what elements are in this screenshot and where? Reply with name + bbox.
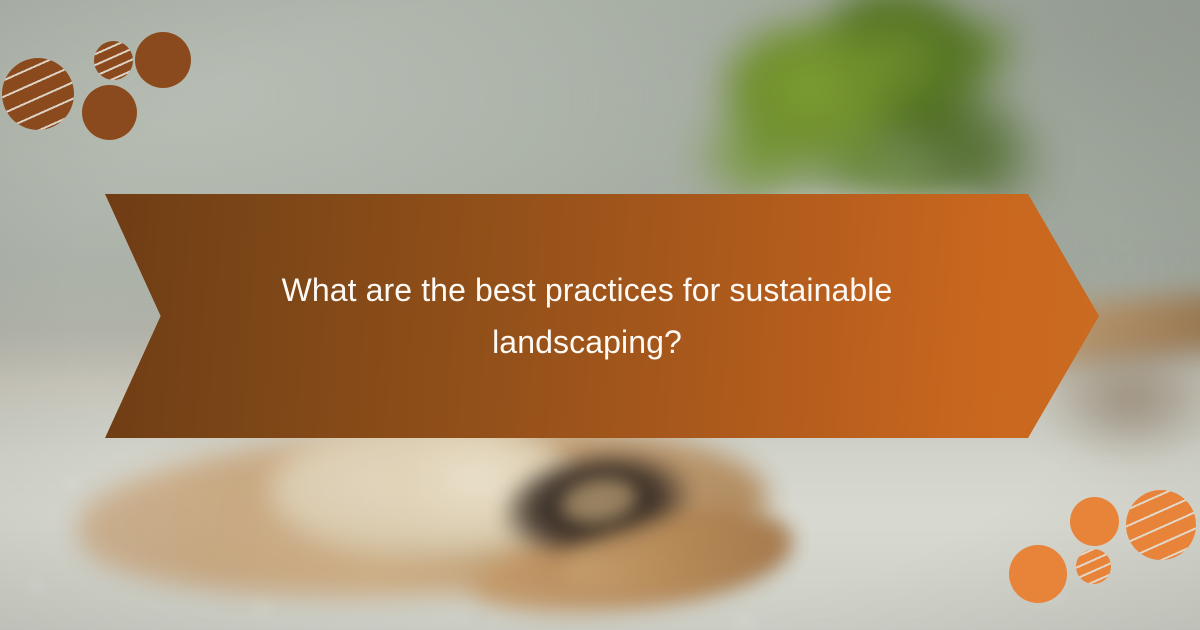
deco-bottom-right-bottom-solid-circle xyxy=(1009,545,1067,603)
headline-text-block: What are the best practices for sustaina… xyxy=(195,194,979,438)
deco-bottom-right-medium-solid-circle xyxy=(1070,497,1119,546)
deco-top-left-large-solid-circle xyxy=(135,32,191,88)
deco-bottom-right-small-striped-circle xyxy=(1076,549,1111,584)
headline-line-2: landscaping? xyxy=(492,316,682,368)
deco-bottom-right-large-striped-circle xyxy=(1126,490,1196,560)
deco-top-left-large-striped-circle xyxy=(2,58,74,130)
deco-top-left-small-striped-circle xyxy=(94,41,133,80)
headline-line-1: What are the best practices for sustaina… xyxy=(282,264,893,316)
banner-card: What are the best practices for sustaina… xyxy=(0,0,1200,630)
deco-top-left-medium-solid-circle xyxy=(82,85,137,140)
headline-ribbon: What are the best practices for sustaina… xyxy=(105,194,1099,438)
